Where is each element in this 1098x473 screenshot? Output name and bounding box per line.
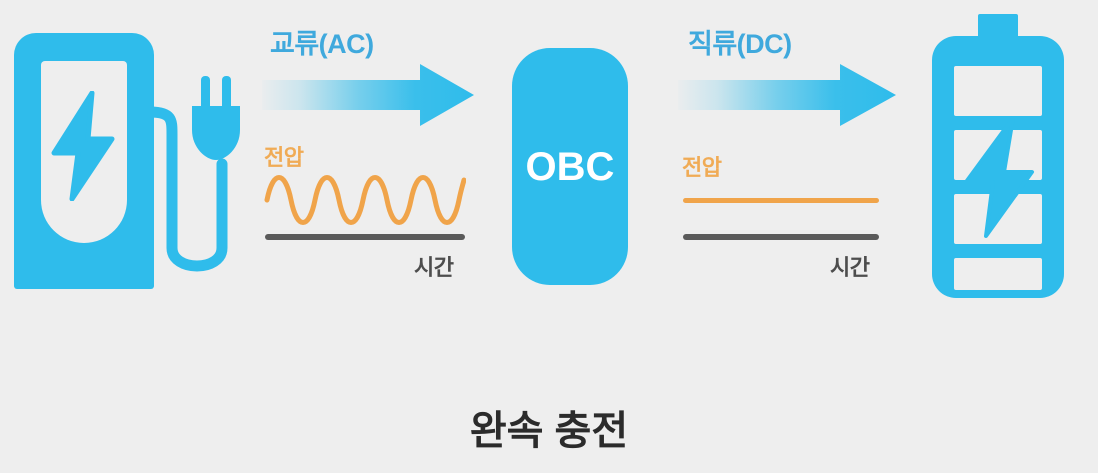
- dc-constant-voltage-line: [683, 198, 879, 203]
- dc-flow-label: 직류(DC): [688, 22, 792, 61]
- ac-voltage-axis-label: 전압: [264, 140, 303, 172]
- battery-segment: [954, 258, 1042, 290]
- diagram-canvas: 교류(AC) 전압 시간 OBC 직류(DC): [0, 0, 1098, 473]
- page-caption: 완속 충전: [0, 398, 1098, 456]
- dc-time-axis: [683, 234, 879, 240]
- ac-arrow-icon: [262, 64, 474, 126]
- obc-module: OBC: [512, 48, 628, 285]
- lightning-bolt-icon: [50, 91, 118, 201]
- battery-icon: [928, 14, 1068, 298]
- ac-sine-waveform: [264, 172, 466, 228]
- dc-time-axis-label: 시간: [830, 250, 869, 282]
- ac-flow-label: 교류(AC): [270, 22, 374, 61]
- battery-segment: [954, 66, 1042, 116]
- obc-label: OBC: [526, 147, 615, 187]
- ac-flow-group: 교류(AC) 전압 시간: [262, 22, 474, 284]
- ev-charging-station: [14, 33, 154, 289]
- power-plug-icon: [150, 72, 246, 288]
- dc-voltage-axis-label: 전압: [682, 150, 721, 182]
- ac-time-axis: [265, 234, 465, 240]
- dc-flow-group: 직류(DC) 전압 시간: [678, 22, 896, 284]
- ac-time-axis-label: 시간: [414, 250, 453, 282]
- dc-arrow-icon: [678, 64, 896, 126]
